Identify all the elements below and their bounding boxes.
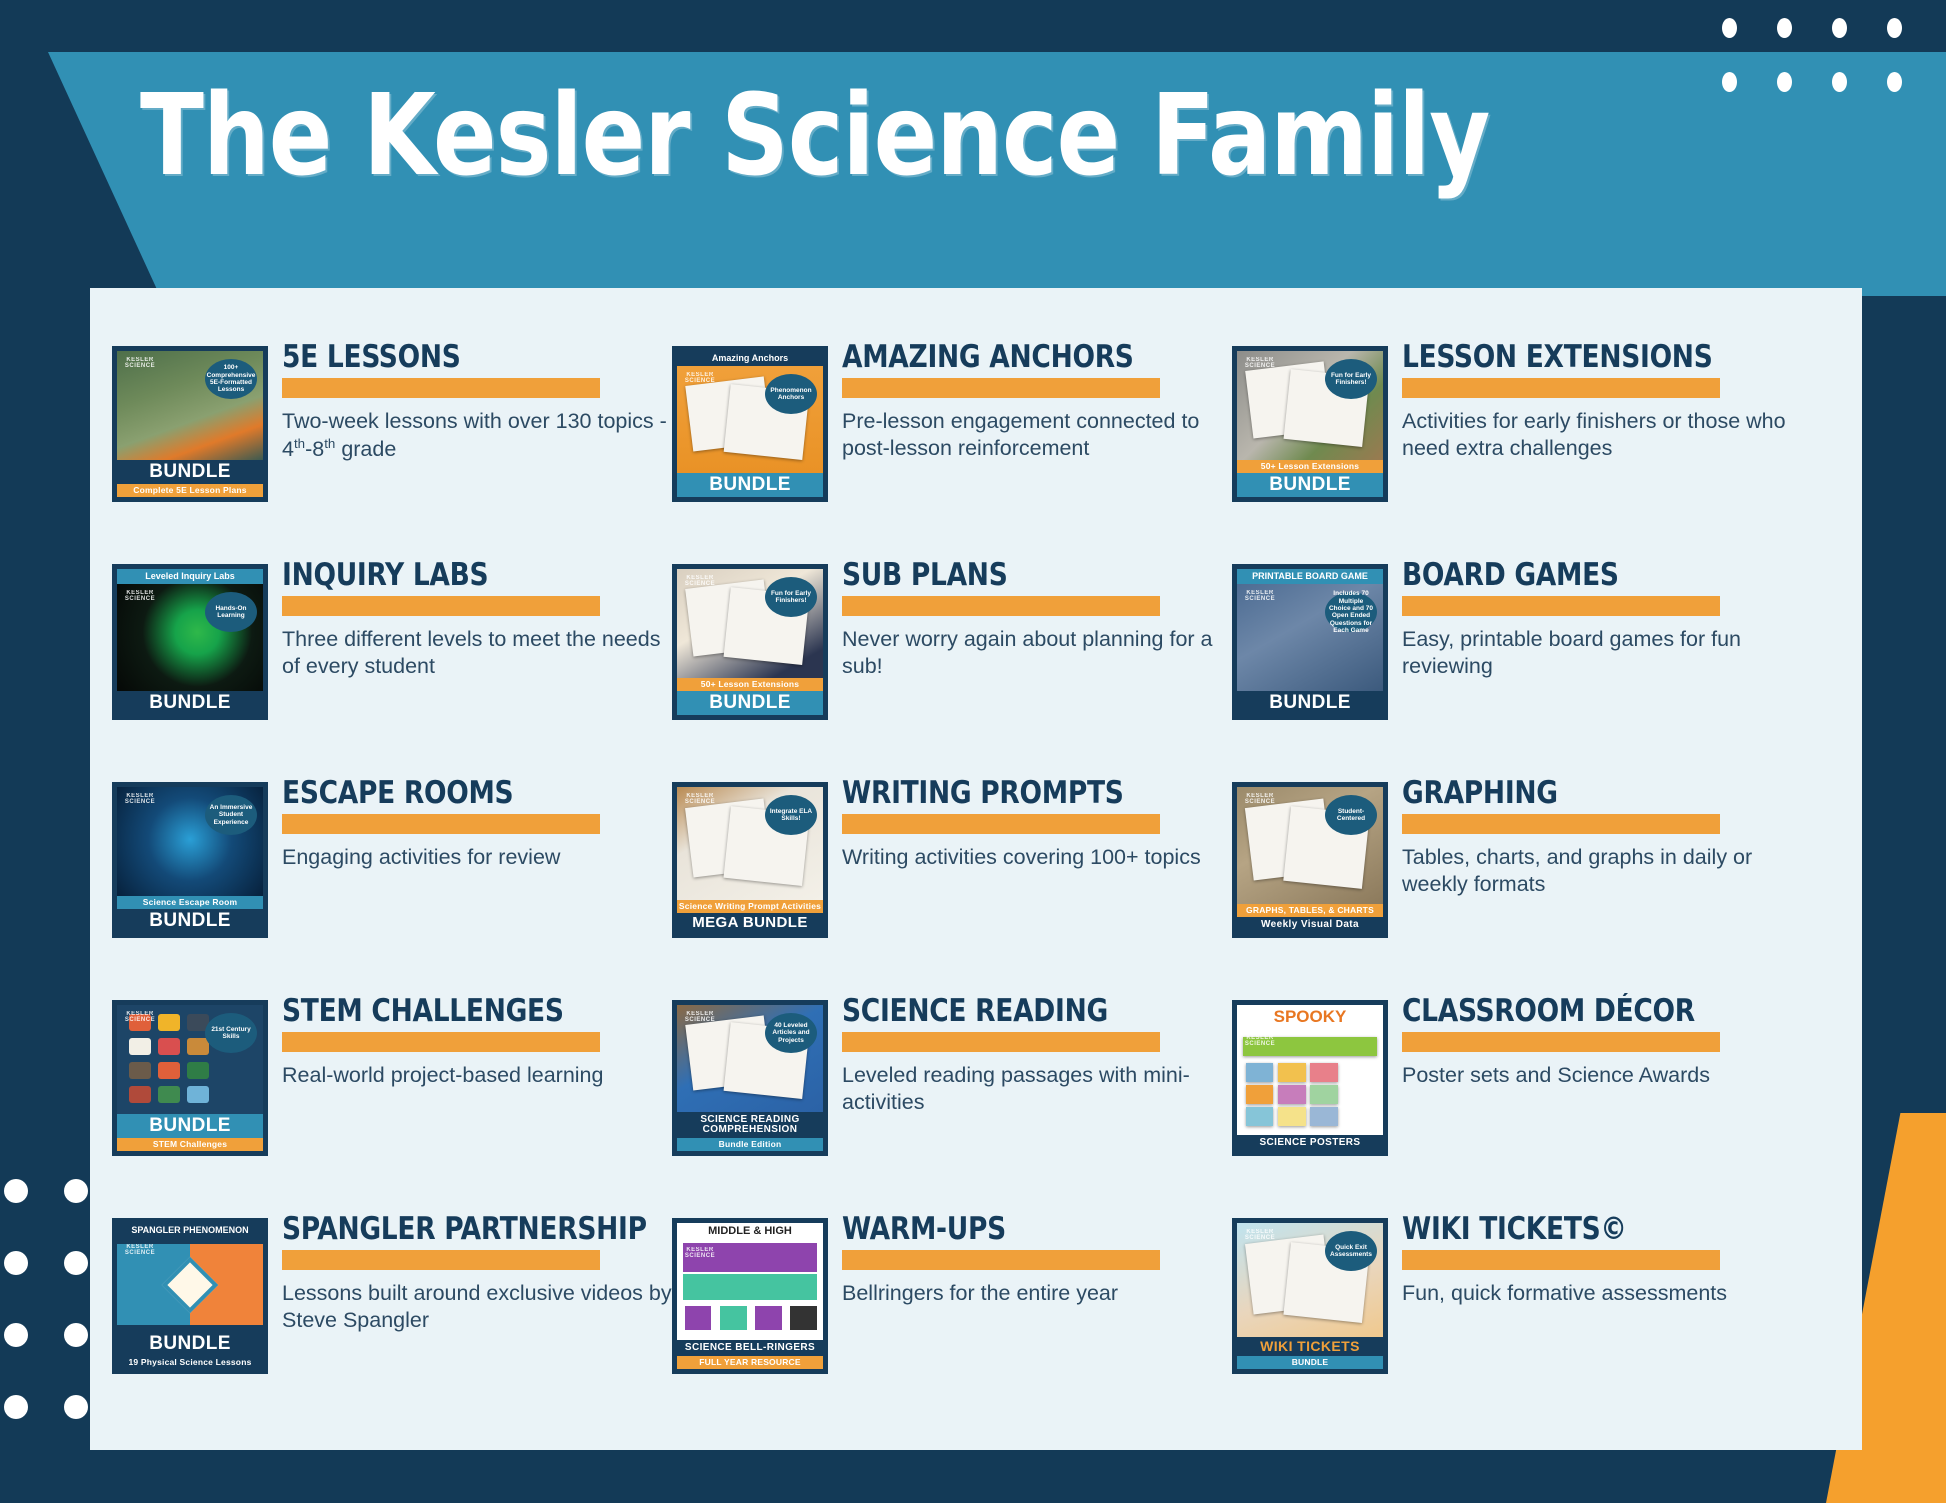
thumbnail-bundle-label: WIKI TICKETS (1237, 1337, 1383, 1356)
product-text: SPANGLER PARTNERSHIPLessons built around… (282, 1208, 672, 1335)
dot (1832, 72, 1847, 92)
product-item[interactable]: Amazing AnchorsKESLER SCIENCEPhenomenon … (672, 336, 1232, 554)
dot (1887, 18, 1902, 38)
kesler-science-logo: KESLER SCIENCE (1243, 590, 1277, 610)
thumbnail-artwork: KESLER SCIENCE (677, 1241, 823, 1341)
thumbnail-strip-label: GRAPHS, TABLES, & CHARTS (1237, 904, 1383, 917)
product-thumbnail[interactable]: SPOOKYKESLER SCIENCESCIENCE POSTERS (1232, 1000, 1388, 1156)
thumbnail-badge: 21st Century Skills (205, 1013, 257, 1053)
product-thumbnail[interactable]: KESLER SCIENCEAn Immersive Student Exper… (112, 782, 268, 938)
dot (64, 1395, 88, 1419)
thumbnail-artwork: KESLER SCIENCEStudent-Centered (1237, 787, 1383, 904)
product-text: INQUIRY LABSThree different levels to me… (282, 554, 672, 681)
kesler-science-logo: KESLER SCIENCE (1243, 1035, 1277, 1055)
thumbnail-top-label: SPANGLER PHENOMENON (117, 1223, 263, 1238)
product-text: LESSON EXTENSIONSActivities for early fi… (1402, 336, 1792, 463)
thumbnail-artwork: KESLER SCIENCEAn Immersive Student Exper… (117, 787, 263, 896)
accent-rule (1402, 814, 1720, 834)
stem-icon (158, 1062, 180, 1079)
product-item[interactable]: MIDDLE & HIGHKESLER SCIENCESCIENCE BELL-… (672, 1208, 1232, 1418)
product-title: WIKI TICKETS© (1402, 1214, 1773, 1246)
accent-rule (842, 814, 1160, 834)
product-thumbnail[interactable]: Amazing AnchorsKESLER SCIENCEPhenomenon … (672, 346, 828, 502)
thumbnail-artwork: KESLER SCIENCEPhenomenon Anchors (677, 366, 823, 473)
dot (4, 1323, 28, 1347)
thumbnail-artwork: KESLER SCIENCE40 Leveled Articles and Pr… (677, 1005, 823, 1112)
thumbnail-bundle-label: BUNDLE (117, 1332, 263, 1356)
product-title: 5E LESSONS (282, 342, 653, 374)
thumbnail-badge: Includes 70 Multiple Choice and 70 Open … (1325, 592, 1377, 632)
preview-thumb (753, 1304, 784, 1332)
thumbnail-bundle-label: BUNDLE (117, 460, 263, 484)
bellringers-band (683, 1274, 817, 1300)
dot (4, 1179, 28, 1203)
decorative-dots-top-right-row2 (1722, 72, 1942, 92)
product-grid: KESLER SCIENCE100+ Comprehensive 5E-Form… (112, 336, 1852, 1418)
thumbnail-strip-label: Science Writing Prompt Activities (677, 900, 823, 913)
kesler-science-logo: KESLER SCIENCE (1243, 357, 1277, 377)
dot (64, 1179, 88, 1203)
preview-thumb (683, 1304, 714, 1332)
product-title: LESSON EXTENSIONS (1402, 342, 1773, 374)
product-description: Lessons built around exclusive videos by… (282, 1280, 672, 1335)
stem-icon (187, 1062, 209, 1079)
thumbnail-artwork: KESLER SCIENCEQuick Exit Assessments (1237, 1223, 1383, 1337)
thumbnail-strip-label: Bundle Edition (677, 1138, 823, 1151)
thumbnail-bundle-label: BUNDLE (1237, 473, 1383, 497)
accent-rule (282, 814, 600, 834)
thumbnail-badge: Phenomenon Anchors (765, 374, 817, 414)
accent-rule (1402, 596, 1720, 616)
thumbnail-artwork: KESLER SCIENCEFun for Early Finishers! (1237, 351, 1383, 460)
poster-thumb (1246, 1085, 1274, 1104)
thumbnail-bundle-label: BUNDLE (677, 473, 823, 497)
stem-icon (158, 1014, 180, 1031)
dot (1887, 72, 1902, 92)
product-text: SUB PLANSNever worry again about plannin… (842, 554, 1232, 681)
product-description: Pre-lesson engagement connected to post-… (842, 408, 1232, 463)
thumbnail-strip-label: BUNDLE (1237, 1356, 1383, 1369)
product-item[interactable]: KESLER SCIENCEFun for Early Finishers!50… (672, 554, 1232, 772)
product-description: Poster sets and Science Awards (1402, 1062, 1792, 1090)
product-description: Tables, charts, and graphs in daily or w… (1402, 844, 1792, 899)
thumbnail-badge: Integrate ELA Skills! (765, 795, 817, 835)
product-title: CLASSROOM DÉCOR (1402, 996, 1773, 1028)
stem-icon (129, 1062, 151, 1079)
product-title: GRAPHING (1402, 778, 1773, 810)
thumbnail-artwork: KESLER SCIENCE (117, 1238, 263, 1332)
product-item[interactable]: KESLER SCIENCEStudent-CenteredGRAPHS, TA… (1232, 772, 1792, 990)
stem-icon (158, 1086, 180, 1103)
dot (1722, 72, 1737, 92)
accent-rule (1402, 1032, 1720, 1052)
product-item[interactable]: KESLER SCIENCEFun for Early Finishers!50… (1232, 336, 1792, 554)
product-description: Leveled reading passages with mini-activ… (842, 1062, 1232, 1117)
page-title: The Kesler Science Family (140, 80, 1489, 192)
kesler-science-logo: KESLER SCIENCE (1243, 1229, 1277, 1249)
preview-thumb (788, 1304, 819, 1332)
thumbnail-badge: 100+ Comprehensive 5E-Formatted Lessons (205, 359, 257, 399)
kesler-science-logo: KESLER SCIENCE (683, 372, 717, 392)
preview-thumb (718, 1304, 749, 1332)
product-description: Fun, quick formative assessments (1402, 1280, 1792, 1308)
product-title: WARM-UPS (842, 1214, 1213, 1246)
product-item[interactable]: KESLER SCIENCEAn Immersive Student Exper… (112, 772, 672, 990)
thumbnail-badge: Hands-On Learning (205, 592, 257, 632)
product-title: SUB PLANS (842, 560, 1213, 592)
thumbnail-top-label: PRINTABLE BOARD GAME (1237, 569, 1383, 584)
product-thumbnail[interactable]: KESLER SCIENCEIntegrate ELA Skills!Scien… (672, 782, 828, 938)
stem-icon (158, 1038, 180, 1055)
thumbnail-badge: An Immersive Student Experience (205, 795, 257, 835)
product-text: ESCAPE ROOMSEngaging activities for revi… (282, 772, 672, 871)
accent-rule (842, 1032, 1160, 1052)
thumbnail-top-label: Leveled Inquiry Labs (117, 569, 263, 584)
product-thumbnail[interactable]: KESLER SCIENCEStudent-CenteredGRAPHS, TA… (1232, 782, 1388, 938)
product-title: INQUIRY LABS (282, 560, 653, 592)
accent-rule (282, 1032, 600, 1052)
accent-rule (282, 1250, 600, 1270)
thumbnail-bundle-label: BUNDLE (677, 691, 823, 715)
product-title: AMAZING ANCHORS (842, 342, 1213, 374)
product-item[interactable]: KESLER SCIENCE21st Century SkillsBUNDLES… (112, 990, 672, 1208)
product-thumbnail[interactable]: KESLER SCIENCE100+ Comprehensive 5E-Form… (112, 346, 268, 502)
product-title: SCIENCE READING (842, 996, 1213, 1028)
thumbnail-strip-label: Complete 5E Lesson Plans (117, 484, 263, 497)
product-item[interactable]: PRINTABLE BOARD GAMEKESLER SCIENCEInclud… (1232, 554, 1792, 772)
thumbnail-bundle-label: BUNDLE (1237, 691, 1383, 715)
product-thumbnail[interactable]: MIDDLE & HIGHKESLER SCIENCESCIENCE BELL-… (672, 1218, 828, 1374)
kesler-science-logo: KESLER SCIENCE (123, 357, 157, 377)
poster-thumb (1246, 1107, 1274, 1126)
kesler-science-logo: KESLER SCIENCE (123, 793, 157, 813)
kesler-science-logo: KESLER SCIENCE (683, 793, 717, 813)
product-text: CLASSROOM DÉCORPoster sets and Science A… (1402, 990, 1792, 1089)
product-item[interactable]: SPANGLER PHENOMENONKESLER SCIENCEBUNDLE1… (112, 1208, 672, 1418)
thumbnail-artwork: KESLER SCIENCE (1237, 1029, 1383, 1135)
accent-rule (842, 1250, 1160, 1270)
product-thumbnail[interactable]: KESLER SCIENCEFun for Early Finishers!50… (672, 564, 828, 720)
thumbnail-strip-label: 19 Physical Science Lessons (117, 1356, 263, 1369)
dot (1832, 18, 1847, 38)
product-text: WARM-UPSBellringers for the entire year (842, 1208, 1232, 1307)
accent-rule (282, 378, 600, 398)
kesler-science-logo: KESLER SCIENCE (123, 1011, 157, 1031)
product-description: Engaging activities for review (282, 844, 672, 872)
stem-icon (129, 1038, 151, 1055)
product-title: WRITING PROMPTS (842, 778, 1213, 810)
product-description: Two-week lessons with over 130 topics - … (282, 408, 672, 464)
thumbnail-top-label: SPOOKY (1237, 1005, 1383, 1029)
product-text: GRAPHINGTables, charts, and graphs in da… (1402, 772, 1792, 899)
stem-icon (187, 1086, 209, 1103)
dot (1722, 18, 1737, 38)
product-thumbnail[interactable]: SPANGLER PHENOMENONKESLER SCIENCEBUNDLE1… (112, 1218, 268, 1374)
product-thumbnail[interactable]: Leveled Inquiry LabsKESLER SCIENCEHands-… (112, 564, 268, 720)
product-description: Three different levels to meet the needs… (282, 626, 672, 681)
stem-icon (187, 1038, 209, 1055)
thumbnail-bundle-label: BUNDLE (117, 909, 263, 933)
product-text: WIKI TICKETS©Fun, quick formative assess… (1402, 1208, 1792, 1307)
accent-rule (282, 596, 600, 616)
thumbnail-top-label: Amazing Anchors (677, 351, 823, 366)
thumbnail-badge: 40 Leveled Articles and Projects (765, 1013, 817, 1053)
product-text: 5E LESSONSTwo-week lessons with over 130… (282, 336, 672, 464)
thumbnail-strip-label: 50+ Lesson Extensions (677, 678, 823, 691)
product-item[interactable]: KESLER SCIENCEQuick Exit AssessmentsWIKI… (1232, 1208, 1792, 1418)
thumbnail-strip-label: Science Escape Room (117, 896, 263, 909)
product-text: WRITING PROMPTSWriting activities coveri… (842, 772, 1232, 871)
thumbnail-artwork: KESLER SCIENCE21st Century Skills (117, 1005, 263, 1114)
product-description: Bellringers for the entire year (842, 1280, 1232, 1308)
poster-thumb (1278, 1107, 1306, 1126)
thumbnail-badge: Fun for Early Finishers! (1325, 359, 1377, 399)
product-item[interactable]: KESLER SCIENCE40 Leveled Articles and Pr… (672, 990, 1232, 1208)
product-description: Real-world project-based learning (282, 1062, 672, 1090)
product-thumbnail[interactable]: PRINTABLE BOARD GAMEKESLER SCIENCEInclud… (1232, 564, 1388, 720)
thumbnail-bundle-label: SCIENCE BELL-RINGERS (677, 1340, 823, 1356)
thumbnail-bundle-label: BUNDLE (117, 1114, 263, 1138)
thumbnail-top-label: MIDDLE & HIGH (677, 1223, 823, 1241)
thumbnail-strip-label: STEM Challenges (117, 1138, 263, 1151)
product-item[interactable]: KESLER SCIENCE100+ Comprehensive 5E-Form… (112, 336, 672, 554)
thumbnail-bundle-label: SCIENCE READING COMPREHENSION (677, 1112, 823, 1138)
accent-rule (842, 378, 1160, 398)
kesler-science-logo: KESLER SCIENCE (123, 590, 157, 610)
product-title: BOARD GAMES (1402, 560, 1773, 592)
poster-thumb (1310, 1085, 1338, 1104)
product-title: ESCAPE ROOMS (282, 778, 653, 810)
product-description: Writing activities covering 100+ topics (842, 844, 1232, 872)
dot (1777, 18, 1792, 38)
kesler-science-logo: KESLER SCIENCE (683, 1247, 717, 1267)
thumbnail-bundle-label: BUNDLE (117, 691, 263, 715)
decorative-dots-top-right-row1 (1722, 18, 1942, 38)
product-text: AMAZING ANCHORSPre-lesson engagement con… (842, 336, 1232, 463)
product-title: STEM CHALLENGES (282, 996, 653, 1028)
product-thumbnail[interactable]: KESLER SCIENCE40 Leveled Articles and Pr… (672, 1000, 828, 1156)
thumbnail-bundle-label: Weekly Visual Data (1237, 917, 1383, 933)
poster-thumb (1278, 1063, 1306, 1082)
kesler-science-logo: KESLER SCIENCE (683, 1011, 717, 1031)
thumbnail-strip-label: 50+ Lesson Extensions (1237, 460, 1383, 473)
product-item[interactable]: SPOOKYKESLER SCIENCESCIENCE POSTERSCLASS… (1232, 990, 1792, 1208)
product-text: STEM CHALLENGESReal-world project-based … (282, 990, 672, 1089)
thumbnail-badge: Fun for Early Finishers! (765, 577, 817, 617)
thumbnail-bundle-label: SCIENCE POSTERS (1237, 1135, 1383, 1151)
dot (1777, 72, 1792, 92)
thumbnail-artwork: KESLER SCIENCE100+ Comprehensive 5E-Form… (117, 351, 263, 460)
product-thumbnail[interactable]: KESLER SCIENCEFun for Early Finishers!50… (1232, 346, 1388, 502)
poster-thumb (1278, 1085, 1306, 1104)
product-title: SPANGLER PARTNERSHIP (282, 1214, 653, 1246)
thumbnail-badge: Quick Exit Assessments (1325, 1231, 1377, 1271)
product-item[interactable]: KESLER SCIENCEIntegrate ELA Skills!Scien… (672, 772, 1232, 990)
product-item[interactable]: Leveled Inquiry LabsKESLER SCIENCEHands-… (112, 554, 672, 772)
product-text: SCIENCE READINGLeveled reading passages … (842, 990, 1232, 1117)
thumbnail-artwork: KESLER SCIENCEIntegrate ELA Skills! (677, 787, 823, 900)
stem-icon (129, 1086, 151, 1103)
kesler-science-logo: KESLER SCIENCE (683, 575, 717, 595)
thumbnail-artwork: KESLER SCIENCEIncludes 70 Multiple Choic… (1237, 584, 1383, 691)
product-thumbnail[interactable]: KESLER SCIENCE21st Century SkillsBUNDLES… (112, 1000, 268, 1156)
product-description: Activities for early finishers or those … (1402, 408, 1792, 463)
dot (4, 1395, 28, 1419)
product-description: Easy, printable board games for fun revi… (1402, 626, 1792, 681)
poster-thumb (1310, 1063, 1338, 1082)
product-thumbnail[interactable]: KESLER SCIENCEQuick Exit AssessmentsWIKI… (1232, 1218, 1388, 1374)
dot (4, 1251, 28, 1275)
thumbnail-strip-label: FULL YEAR RESOURCE (677, 1356, 823, 1369)
thumbnail-badge: Student-Centered (1325, 795, 1377, 835)
dot (64, 1251, 88, 1275)
thumbnail-artwork: KESLER SCIENCEFun for Early Finishers! (677, 569, 823, 678)
thumbnail-artwork: KESLER SCIENCEHands-On Learning (117, 584, 263, 691)
kesler-science-logo: KESLER SCIENCE (123, 1244, 157, 1264)
accent-rule (1402, 378, 1720, 398)
poster-thumb (1246, 1063, 1274, 1082)
accent-rule (842, 596, 1160, 616)
thumbnail-bundle-label: MEGA BUNDLE (677, 913, 823, 933)
product-description: Never worry again about planning for a s… (842, 626, 1232, 681)
accent-rule (1402, 1250, 1720, 1270)
poster-thumb (1310, 1107, 1338, 1126)
product-text: BOARD GAMESEasy, printable board games f… (1402, 554, 1792, 681)
kesler-science-logo: KESLER SCIENCE (1243, 793, 1277, 813)
dot (64, 1323, 88, 1347)
